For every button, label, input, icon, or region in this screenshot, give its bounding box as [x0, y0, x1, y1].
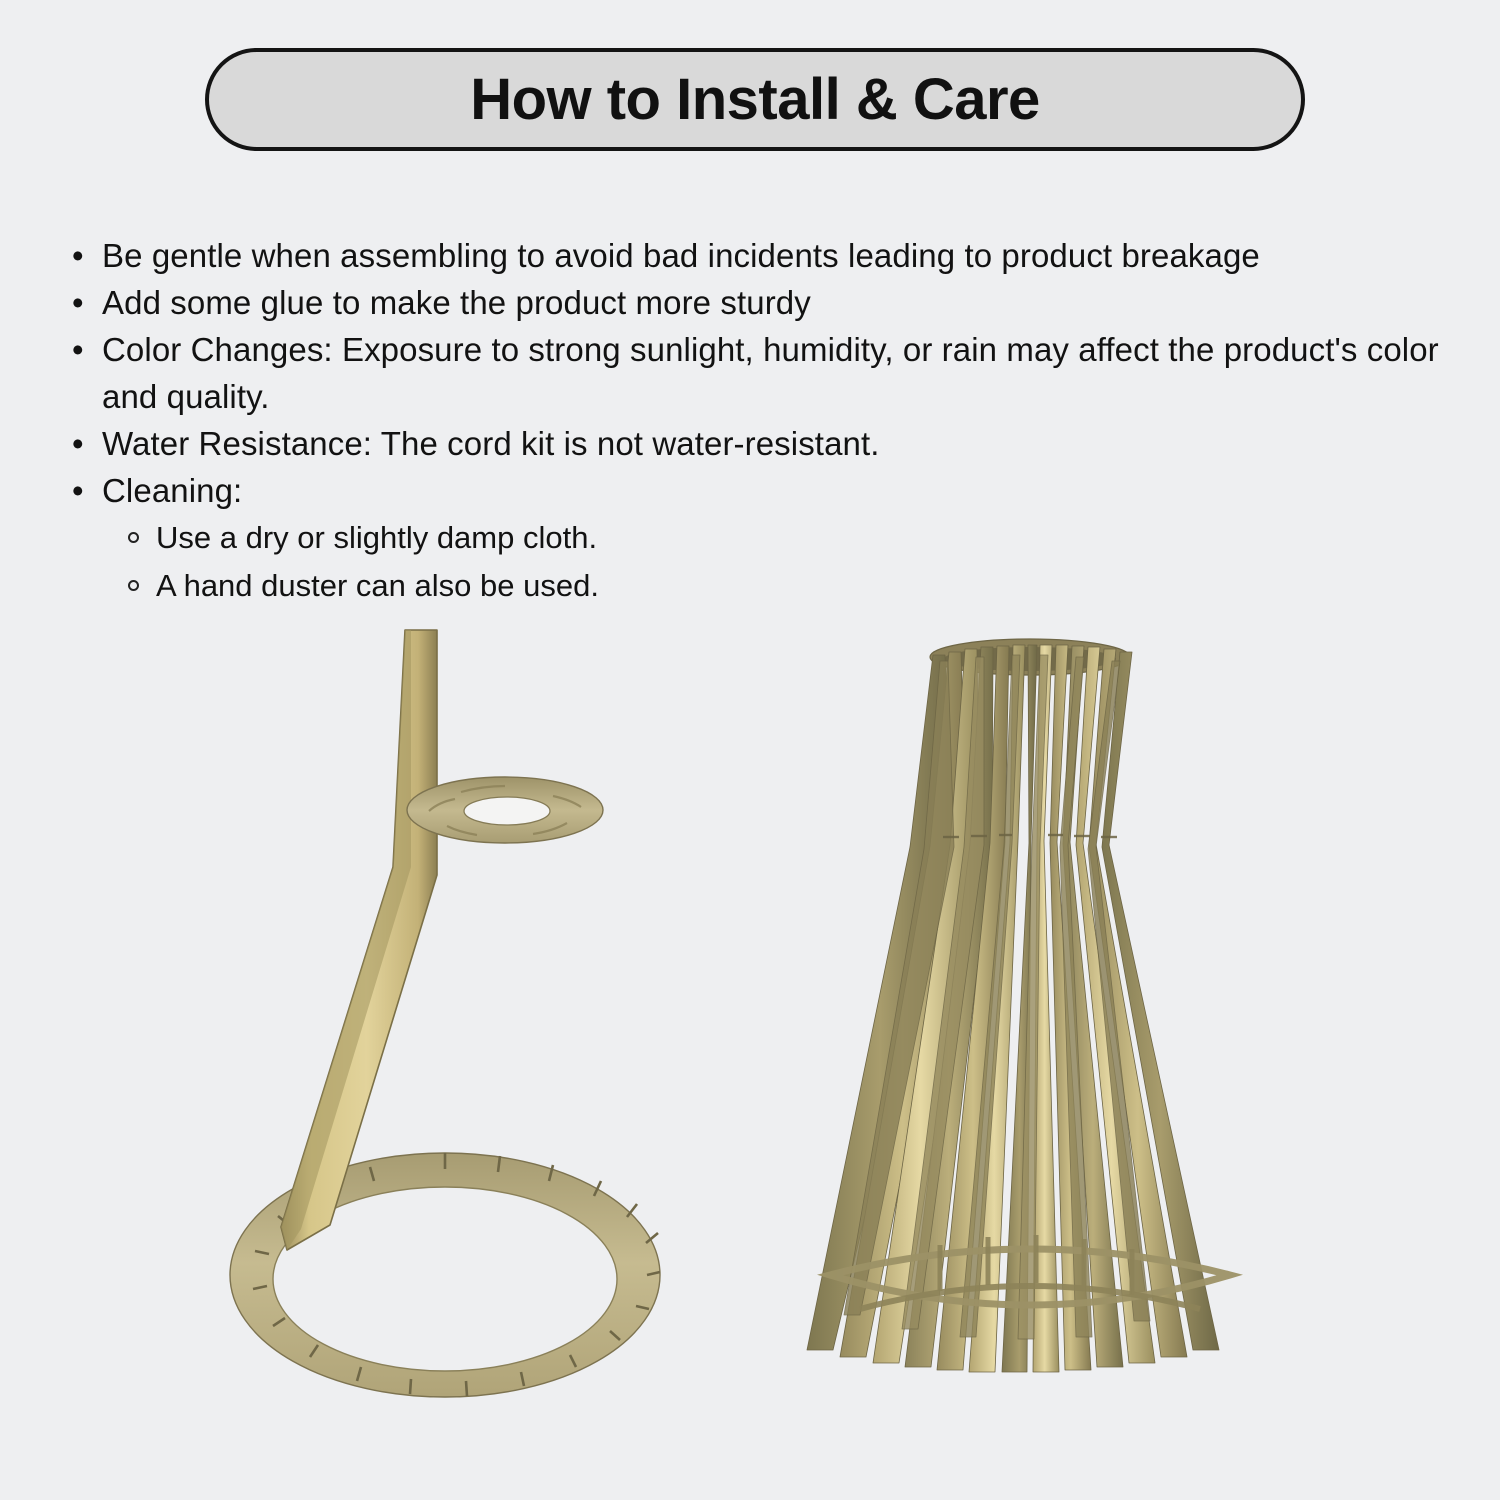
- collar-ring: [407, 777, 603, 843]
- sub-list-item-text: A hand duster can also be used.: [156, 568, 599, 603]
- list-item-text: Color Changes: Exposure to strong sunlig…: [102, 331, 1439, 415]
- bullet-marker-icon: •: [72, 467, 84, 514]
- list-item: • Water Resistance: The cord kit is not …: [62, 420, 1442, 467]
- sub-list-item-text: Use a dry or slightly damp cloth.: [156, 520, 597, 555]
- bullet-marker-icon: •: [72, 232, 84, 279]
- list-item-text: Cleaning:: [102, 472, 242, 509]
- list-item-text: Add some glue to make the product more s…: [102, 284, 811, 321]
- list-item: • Add some glue to make the product more…: [62, 279, 1442, 326]
- bullet-marker-icon: •: [72, 326, 84, 373]
- list-item-text: Water Resistance: The cord kit is not wa…: [102, 425, 880, 462]
- sub-list-item: Use a dry or slightly damp cloth.: [124, 514, 1442, 562]
- care-instructions-list: • Be gentle when assembling to avoid bad…: [62, 232, 1442, 610]
- lamp-frame-image: [215, 615, 735, 1435]
- list-item-text: Be gentle when assembling to avoid bad i…: [102, 237, 1260, 274]
- list-item: • Color Changes: Exposure to strong sunl…: [62, 326, 1442, 420]
- sub-list-item: A hand duster can also be used.: [124, 562, 1442, 610]
- circle-outline-icon: [128, 580, 139, 591]
- bullet-marker-icon: •: [72, 420, 84, 467]
- cleaning-sub-list: Use a dry or slightly damp cloth. A hand…: [124, 514, 1442, 610]
- product-figures: [0, 615, 1500, 1435]
- page-title: How to Install & Care: [470, 71, 1040, 129]
- list-item: • Cleaning:: [62, 467, 1442, 514]
- list-item: • Be gentle when assembling to avoid bad…: [62, 232, 1442, 279]
- bullet-marker-icon: •: [72, 279, 84, 326]
- lamp-shade-image: [740, 615, 1320, 1435]
- circle-outline-icon: [128, 532, 139, 543]
- page-title-pill: How to Install & Care: [205, 48, 1305, 151]
